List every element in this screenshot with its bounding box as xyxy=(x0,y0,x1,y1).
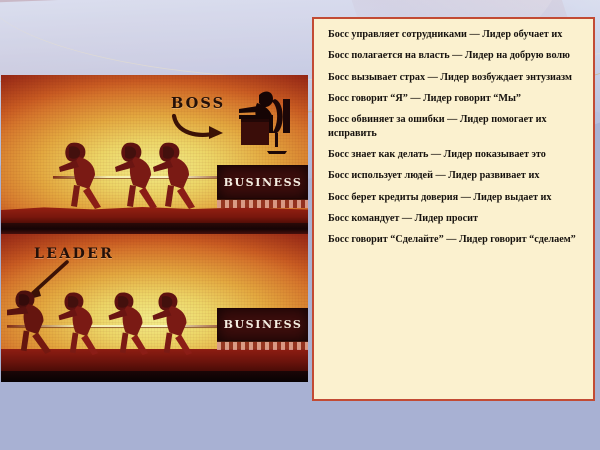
comparison-line: Босс берет кредиты доверия — Лидер выдае… xyxy=(324,191,585,204)
comparison-line: Босс говорит “Я” — Лидер говорит “Мы” xyxy=(324,92,585,105)
boss-leader-image[interactable]: BOSS xyxy=(1,75,308,382)
comparison-textbox[interactable]: Босс управляет сотрудниками — Лидер обуч… xyxy=(312,17,595,401)
comparison-line: Босс использует людей — Лидер развивает … xyxy=(324,169,585,182)
worker-figure xyxy=(153,141,207,211)
comparison-line: Босс говорит “Сделайте” — Лидер говорит … xyxy=(324,233,585,246)
slide-canvas: BOSS xyxy=(0,0,600,450)
business-sign-base xyxy=(217,199,308,208)
panel-divider xyxy=(1,223,308,234)
boss-panel: BOSS xyxy=(1,75,308,223)
leader-figure xyxy=(7,289,63,355)
business-sign-leader: BUSINESS xyxy=(217,308,308,341)
comparison-line: Босс вызывает страх — Лидер возбуждает э… xyxy=(324,71,585,84)
comparison-line: Босс управляет сотрудниками — Лидер обуч… xyxy=(324,28,585,41)
comparison-line: Босс обвиняет за ошибки — Лидер помогает… xyxy=(324,113,585,140)
business-sign-boss: BUSINESS xyxy=(217,165,308,199)
image-bottom-strip xyxy=(1,371,308,382)
leader-panel: LEADER xyxy=(1,234,308,371)
business-sign-base xyxy=(217,341,308,350)
worker-figure xyxy=(151,291,205,357)
comparison-line: Босс знает как делать — Лидер показывает… xyxy=(324,148,585,161)
curved-arrow-right-icon xyxy=(171,113,229,143)
boss-label: BOSS xyxy=(171,95,225,112)
boss-at-desk-icon xyxy=(239,85,303,167)
comparison-line: Босс командует — Лидер просит xyxy=(324,212,585,225)
worker-figure xyxy=(59,141,113,211)
worker-figure xyxy=(57,291,111,357)
comparison-line: Босс полагается на власть — Лидер на доб… xyxy=(324,49,585,62)
